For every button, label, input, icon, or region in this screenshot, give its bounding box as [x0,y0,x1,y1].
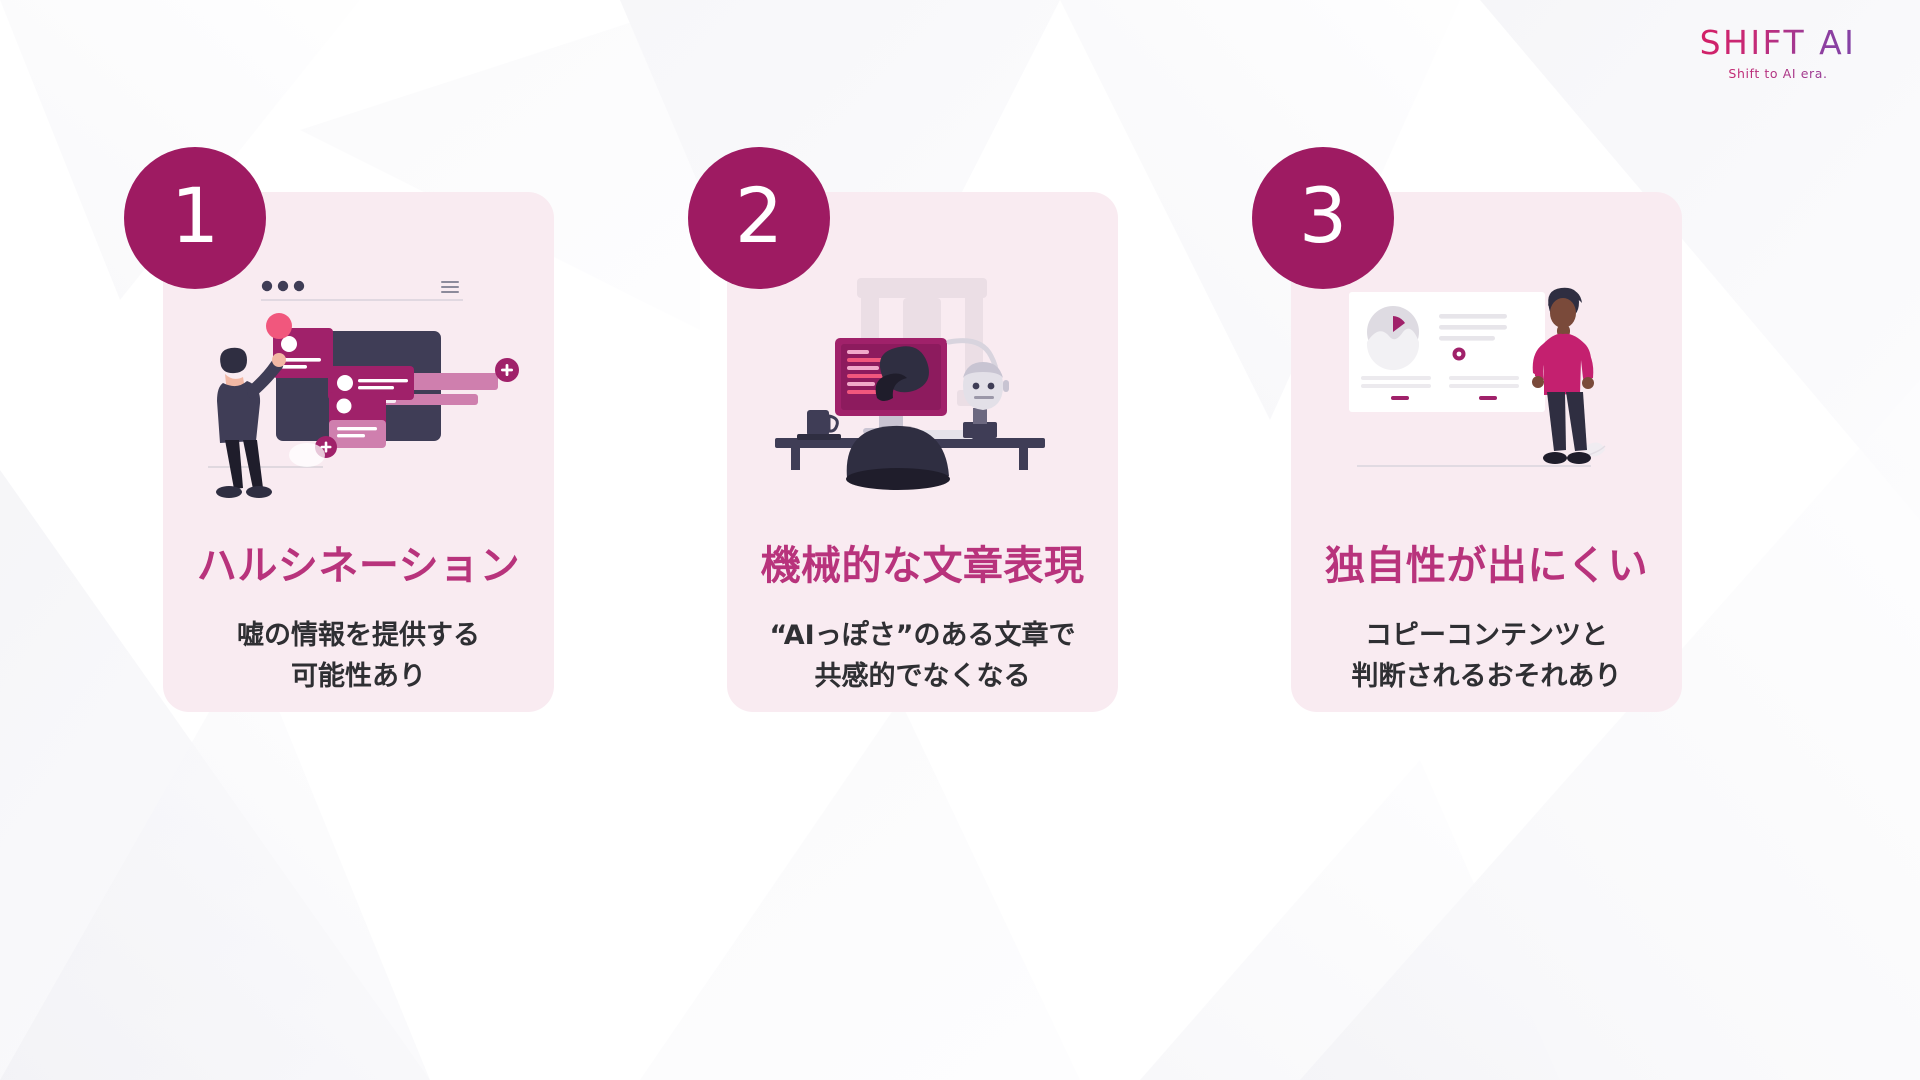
card-3[interactable]: 3 [1291,192,1682,712]
logo-tagline: Shift to AI era. [1678,66,1878,81]
card-number-label: 1 [171,178,219,254]
logo-wordmark: SHIFT AI [1678,26,1878,59]
card-title: 機械的な文章表現 [727,542,1118,590]
card-description: 嘘の情報を提供する 可能性あり [163,615,554,697]
card-number-label: 2 [735,178,783,254]
card-number-badge: 2 [688,147,830,289]
card-2[interactable]: 2 [727,192,1118,712]
card-title: 独自性が出にくい [1291,542,1682,590]
card-1[interactable]: 1 [163,192,554,712]
card-number-badge: 1 [124,147,266,289]
card-number-badge: 3 [1252,147,1394,289]
card-row: 1 [0,0,1920,1080]
card-description: コピーコンテンツと 判断されるおそれあり [1291,615,1682,697]
person-viewing-content-card-illustration [1291,270,1682,510]
card-number-label: 3 [1299,178,1347,254]
person-building-dashboard-illustration [163,270,554,510]
card-title: ハルシネーション [163,542,554,590]
person-at-computer-with-robot-illustration [727,270,1118,510]
brand-logo: SHIFT AI Shift to AI era. [1678,26,1878,81]
card-description: “AIっぽさ”のある文章で 共感的でなくなる [727,615,1118,697]
